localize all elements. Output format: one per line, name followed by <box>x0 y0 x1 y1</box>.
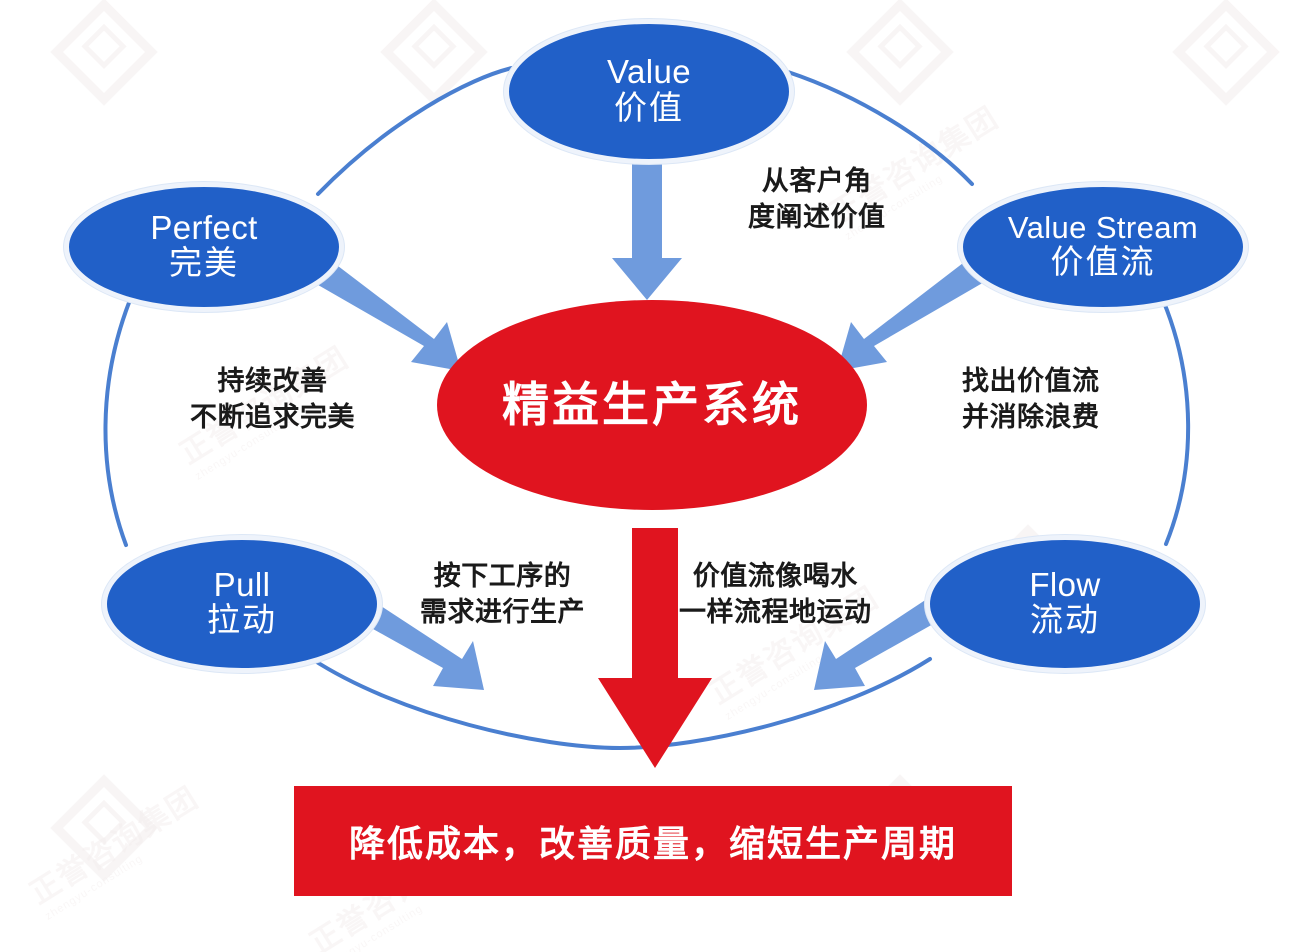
node-perfect[interactable]: Perfect 完美 <box>64 182 344 312</box>
caption-value-line2: 度阐述价值 <box>748 199 886 235</box>
node-pull-label-zh: 拉动 <box>207 601 277 640</box>
connector-pull-to-perfect <box>105 300 130 545</box>
caption-value-line1: 从客户角 <box>748 163 886 199</box>
connector-perfect-to-value <box>318 68 512 194</box>
node-flow[interactable]: Flow 流动 <box>925 535 1205 673</box>
node-value-label-en: Value <box>607 55 691 89</box>
center-node-lean-production-system[interactable]: 精益生产系统 <box>437 300 867 510</box>
caption-perfect-line1: 持续改善 <box>190 363 355 399</box>
caption-pull-line2: 需求进行生产 <box>420 594 585 630</box>
node-value-stream-label-zh: 价值流 <box>1051 243 1156 282</box>
node-perfect-label-zh: 完美 <box>169 244 239 283</box>
outcome-banner-label: 降低成本，改善质量，缩短生产周期 <box>349 815 957 867</box>
caption-flow-line1: 价值流像喝水 <box>679 558 872 594</box>
node-flow-label-zh: 流动 <box>1030 601 1100 640</box>
caption-value-stream-line1: 找出价值流 <box>962 363 1100 399</box>
caption-pull: 按下工序的 需求进行生产 <box>420 558 585 630</box>
node-value-label-zh: 价值 <box>614 89 684 128</box>
caption-perfect: 持续改善 不断追求完美 <box>190 363 355 435</box>
node-value-stream[interactable]: Value Stream 价值流 <box>958 182 1248 312</box>
node-pull-label-en: Pull <box>214 568 271 602</box>
node-value[interactable]: Value 价值 <box>504 19 794 164</box>
caption-value: 从客户角 度阐述价值 <box>748 163 886 235</box>
caption-pull-line1: 按下工序的 <box>420 558 585 594</box>
caption-flow: 价值流像喝水 一样流程地运动 <box>679 558 872 630</box>
node-flow-label-en: Flow <box>1029 568 1100 602</box>
caption-perfect-line2: 不断追求完美 <box>190 399 355 435</box>
arrow-value-to-center <box>612 148 682 300</box>
outcome-banner[interactable]: 降低成本，改善质量，缩短生产周期 <box>294 786 1012 896</box>
connector-valuestream-to-flow <box>1163 300 1188 544</box>
caption-value-stream: 找出价值流 并消除浪费 <box>962 363 1100 435</box>
node-perfect-label-en: Perfect <box>150 211 257 245</box>
diagram-canvas: 正誉咨询集团 zhengyu-consulting 正誉咨询集团 zhengyu… <box>0 0 1300 952</box>
caption-value-stream-line2: 并消除浪费 <box>962 399 1100 435</box>
center-node-label-zh: 精益生产系统 <box>502 377 802 432</box>
node-pull[interactable]: Pull 拉动 <box>102 535 382 673</box>
caption-flow-line2: 一样流程地运动 <box>679 594 872 630</box>
node-value-stream-label-en: Value Stream <box>1008 212 1198 244</box>
